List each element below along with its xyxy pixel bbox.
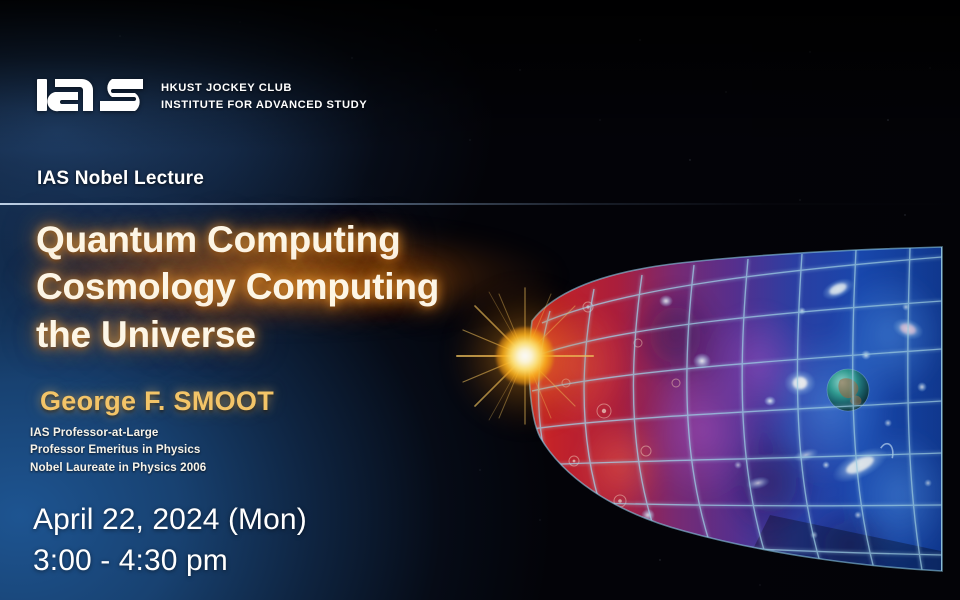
- speaker-credentials: IAS Professor-at-Large Professor Emeritu…: [30, 425, 206, 476]
- title-line-2: Cosmology Computing: [36, 263, 596, 310]
- lecture-poster: HKUST JOCKEY CLUB INSTITUTE FOR ADVANCED…: [0, 0, 960, 600]
- event-time: 3:00 - 4:30 pm: [33, 541, 307, 582]
- ias-logo-mark: [36, 74, 148, 116]
- title-line-3: the Universe: [36, 311, 596, 358]
- ias-logo[interactable]: HKUST JOCKEY CLUB INSTITUTE FOR ADVANCED…: [36, 74, 367, 116]
- credential-line: Professor Emeritus in Physics: [30, 442, 206, 458]
- ias-logo-wordmark: HKUST JOCKEY CLUB INSTITUTE FOR ADVANCED…: [161, 78, 367, 112]
- page-title: Quantum Computing Cosmology Computing th…: [36, 216, 596, 358]
- series-label: IAS Nobel Lecture: [37, 168, 204, 190]
- title-line-1: Quantum Computing: [36, 216, 596, 263]
- event-datetime: April 22, 2024 (Mon) 3:00 - 4:30 pm: [33, 500, 307, 582]
- header-divider: [0, 203, 960, 205]
- speaker-name: George F. SMOOT: [40, 386, 274, 417]
- logo-line-1: HKUST JOCKEY CLUB: [161, 81, 367, 95]
- credential-line: Nobel Laureate in Physics 2006: [30, 460, 206, 476]
- logo-line-2: INSTITUTE FOR ADVANCED STUDY: [161, 98, 367, 112]
- credential-line: IAS Professor-at-Large: [30, 425, 206, 441]
- event-date: April 22, 2024 (Mon): [33, 500, 307, 541]
